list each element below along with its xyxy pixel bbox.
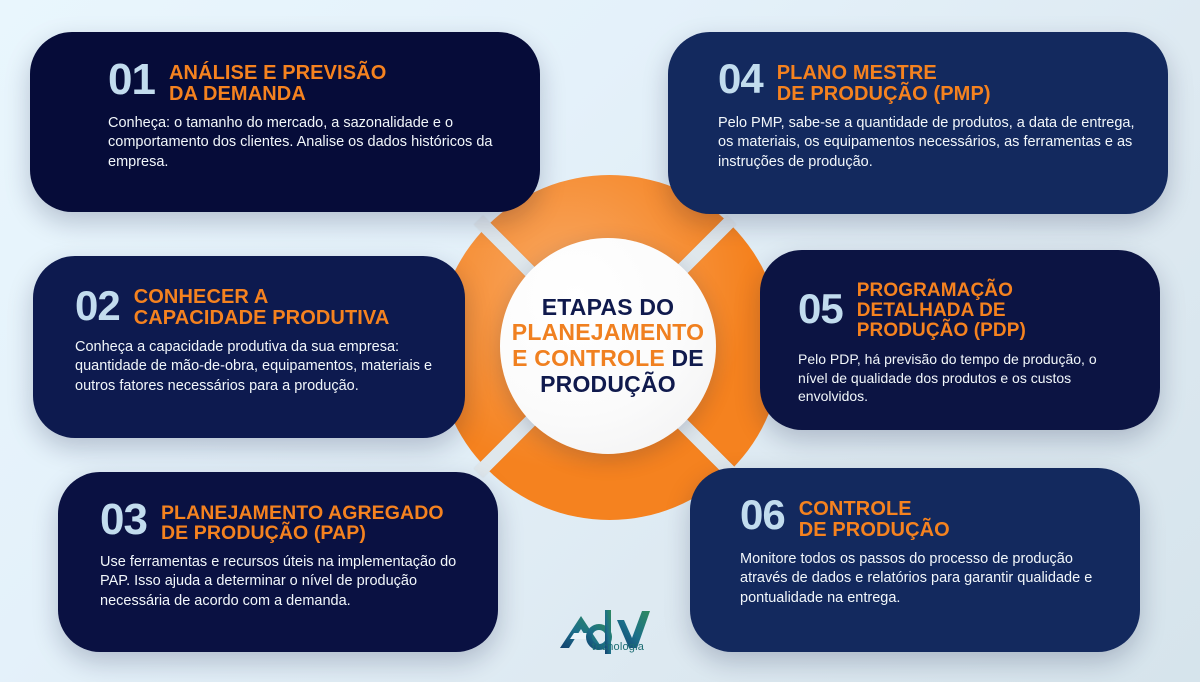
step-card-06-description: Monitore todos os passos do processo de …	[740, 550, 1110, 608]
step-card-04[interactable]: 04 PLANO MESTREDE PRODUÇÃO (PMP) Pelo PM…	[668, 32, 1168, 214]
step-card-03-title: PLANEJAMENTO AGREGADODE PRODUÇÃO (PAP)	[161, 500, 444, 544]
step-card-02-number: 02	[75, 287, 120, 326]
step-card-03-head: 03 PLANEJAMENTO AGREGADODE PRODUÇÃO (PAP…	[100, 500, 468, 544]
step-card-03[interactable]: 03 PLANEJAMENTO AGREGADODE PRODUÇÃO (PAP…	[58, 472, 498, 652]
step-card-01-head: 01 ANÁLISE E PREVISÃODA DEMANDA	[108, 60, 510, 105]
step-card-02-head: 02 CONHECER ACAPACIDADE PRODUTIVA	[75, 284, 435, 329]
step-card-06-number: 06	[740, 496, 785, 535]
step-card-04-head: 04 PLANO MESTREDE PRODUÇÃO (PMP)	[718, 60, 1138, 105]
hub-title-line-4: PRODUÇÃO	[540, 372, 676, 398]
step-card-05-title: PROGRAMAÇÃODETALHADA DEPRODUÇÃO (PDP)	[857, 278, 1026, 341]
step-card-03-description: Use ferramentas e recursos úteis na impl…	[100, 553, 468, 611]
logo-wordmark: tecnologia	[592, 641, 644, 653]
step-card-01-number: 01	[108, 60, 155, 100]
brand-logo: tecnologia	[553, 608, 665, 670]
hub-title-line-3: E CONTROLE DE	[512, 346, 704, 372]
step-card-05-number: 05	[798, 290, 843, 329]
step-card-05[interactable]: 05 PROGRAMAÇÃODETALHADA DEPRODUÇÃO (PDP)…	[760, 250, 1160, 430]
step-card-02-description: Conheça a capacidade produtiva da sua em…	[75, 338, 435, 396]
hub-title-line-3-tail: DE	[665, 345, 704, 371]
step-card-01-title: ANÁLISE E PREVISÃODA DEMANDA	[169, 60, 386, 105]
step-card-02-title: CONHECER ACAPACIDADE PRODUTIVA	[134, 284, 390, 329]
hub-title-line-2: PLANEJAMENTO	[512, 320, 704, 346]
step-card-04-title: PLANO MESTREDE PRODUÇÃO (PMP)	[777, 60, 991, 105]
step-card-04-description: Pelo PMP, sabe-se a quantidade de produt…	[718, 114, 1138, 172]
step-card-03-number: 03	[100, 500, 147, 540]
hub-title-line-1: ETAPAS DO	[542, 295, 675, 321]
center-title-circle: ETAPAS DO PLANEJAMENTO E CONTROLE DE PRO…	[500, 238, 716, 454]
step-card-01-description: Conheça: o tamanho do mercado, a sazonal…	[108, 114, 510, 172]
step-card-05-head: 05 PROGRAMAÇÃODETALHADA DEPRODUÇÃO (PDP)	[798, 278, 1130, 341]
infographic-canvas: ETAPAS DO PLANEJAMENTO E CONTROLE DE PRO…	[0, 0, 1200, 682]
step-card-06-title: CONTROLEDE PRODUÇÃO	[799, 496, 950, 541]
hub-title-line-3-highlight: E CONTROLE	[512, 345, 665, 371]
step-card-04-number: 04	[718, 60, 763, 99]
step-card-06[interactable]: 06 CONTROLEDE PRODUÇÃO Monitore todos os…	[690, 468, 1140, 652]
step-card-01[interactable]: 01 ANÁLISE E PREVISÃODA DEMANDA Conheça:…	[30, 32, 540, 212]
step-card-06-head: 06 CONTROLEDE PRODUÇÃO	[740, 496, 1110, 541]
step-card-02[interactable]: 02 CONHECER ACAPACIDADE PRODUTIVA Conheç…	[33, 256, 465, 438]
step-card-05-description: Pelo PDP, há previsão do tempo de produç…	[798, 350, 1130, 406]
